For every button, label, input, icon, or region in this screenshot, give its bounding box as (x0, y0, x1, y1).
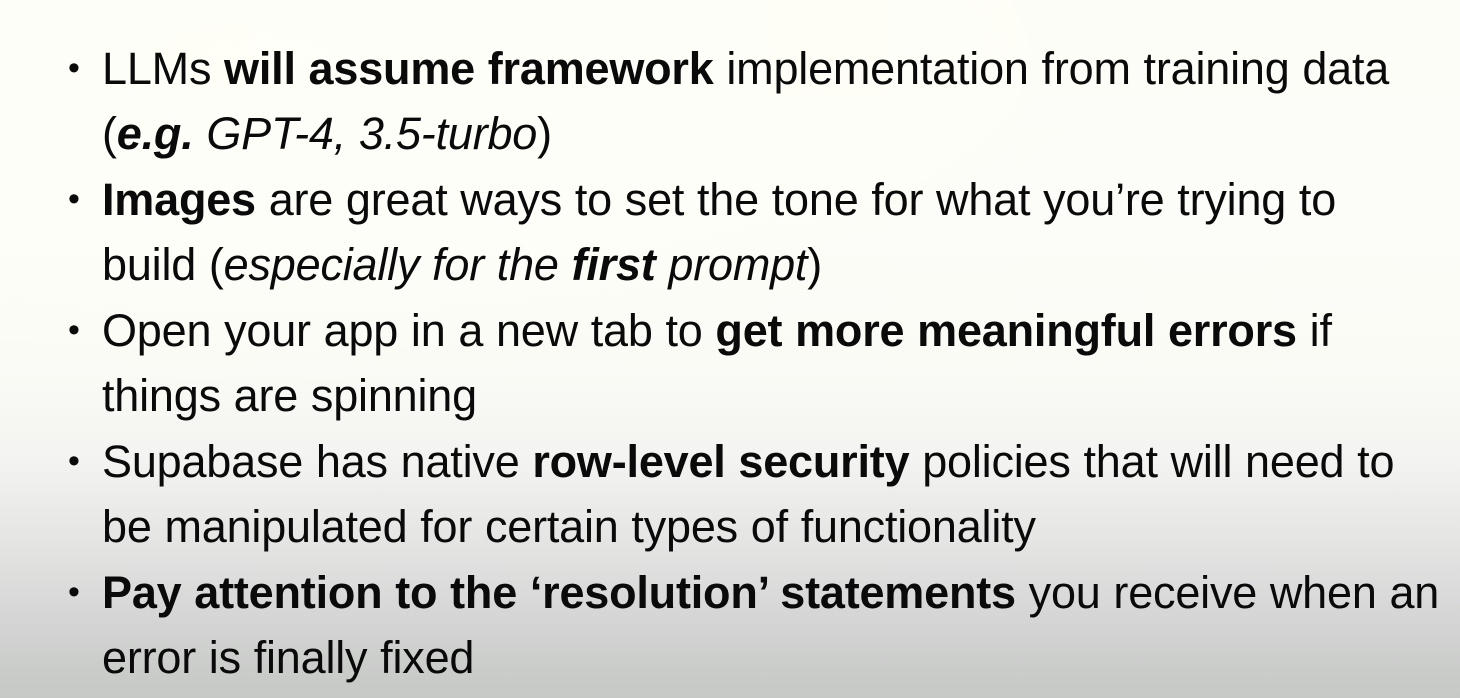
bullet-text: Images are great ways to set the tone fo… (102, 167, 1442, 297)
bullet-marker-icon: • (68, 429, 90, 494)
bullet-marker-icon: • (68, 560, 90, 625)
text-run: get more meaningful errors (715, 305, 1296, 356)
text-run: Supabase has native (102, 436, 532, 487)
text-run: ) (807, 239, 822, 290)
text-run: e.g. (117, 108, 194, 159)
bullet-text: Pay attention to the ‘resolution’ statem… (102, 560, 1442, 690)
bullet-item: •Images are great ways to set the tone f… (68, 167, 1442, 297)
text-run: Pay attention to the ‘resolution’ statem… (102, 567, 1016, 618)
text-run: Images (102, 174, 256, 225)
bullet-text: Open your app in a new tab to get more m… (102, 298, 1442, 428)
text-run: will assume framework (224, 43, 714, 94)
text-run: Open your app in a new tab to (102, 305, 715, 356)
bullet-text: Supabase has native row-level security p… (102, 429, 1442, 559)
text-run: GPT-4, 3.5-turbo (194, 108, 538, 159)
bullet-marker-icon: • (68, 167, 90, 232)
bullet-item: •Open your app in a new tab to get more … (68, 298, 1442, 428)
bullet-item: •LLMs will assume framework implementati… (68, 36, 1442, 166)
text-run: prompt (656, 239, 808, 290)
presentation-slide: •LLMs will assume framework implementati… (0, 0, 1460, 698)
bullet-marker-icon: • (68, 36, 90, 101)
bullet-marker-icon: • (68, 298, 90, 363)
bullet-item: •Pay attention to the ‘resolution’ state… (68, 560, 1442, 690)
text-run: ) (537, 108, 552, 159)
text-run: LLMs (102, 43, 224, 94)
text-run: first (572, 239, 656, 290)
bullet-item: •Supabase has native row-level security … (68, 429, 1442, 559)
bullet-text: LLMs will assume framework implementatio… (102, 36, 1442, 166)
text-run: especially for the (224, 239, 572, 290)
bullet-list: •LLMs will assume framework implementati… (0, 0, 1460, 690)
text-run: row-level security (532, 436, 909, 487)
